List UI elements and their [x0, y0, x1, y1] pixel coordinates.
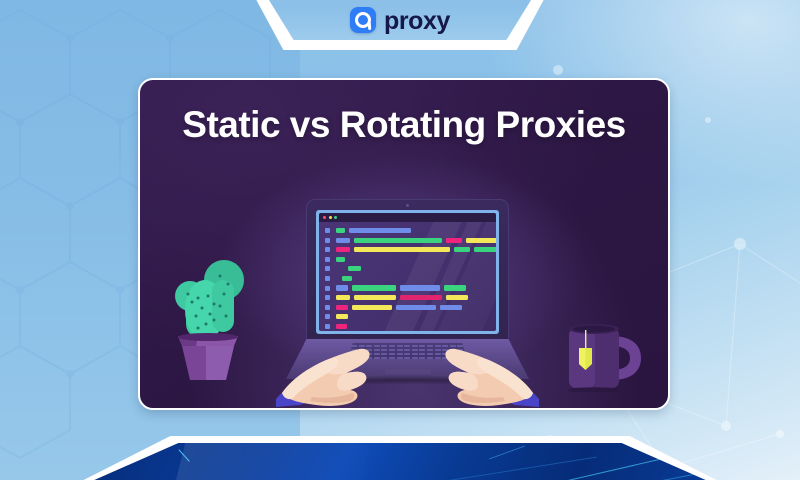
line-number-marker — [325, 228, 330, 233]
code-token — [440, 305, 462, 310]
laptop-screen-bezel — [316, 210, 499, 334]
code-token — [336, 247, 350, 252]
code-token — [336, 285, 348, 290]
proxy-logo-icon — [350, 7, 376, 33]
brand-logo[interactable]: proxy — [238, 2, 562, 38]
code-token — [446, 238, 462, 243]
keyboard-key[interactable] — [397, 345, 403, 347]
keyboard-key[interactable] — [397, 357, 403, 359]
code-line — [319, 313, 496, 320]
coffee-mug — [561, 314, 647, 392]
line-number-marker — [325, 286, 330, 291]
code-token — [336, 228, 345, 233]
maximize-dot-icon[interactable] — [334, 216, 337, 219]
brand-name: proxy — [384, 9, 450, 34]
code-token — [474, 247, 496, 252]
code-token — [354, 238, 442, 243]
minimize-dot-icon[interactable] — [329, 216, 332, 219]
code-token — [446, 295, 468, 300]
code-token — [336, 295, 350, 300]
code-line — [319, 275, 496, 282]
keyboard-key[interactable] — [404, 353, 410, 355]
line-number-marker — [325, 238, 330, 243]
code-token — [400, 285, 440, 290]
code-line — [319, 285, 496, 292]
code-token — [352, 285, 396, 290]
hero-card: Static vs Rotating Proxies — [138, 78, 670, 410]
laptop-trackpad[interactable] — [385, 369, 431, 374]
line-number-marker — [325, 266, 330, 271]
line-number-marker — [325, 276, 330, 281]
code-token — [354, 295, 396, 300]
laptop-lid — [306, 199, 509, 342]
keyboard-key[interactable] — [397, 349, 403, 351]
keyboard-key[interactable] — [404, 345, 410, 347]
keyboard-key[interactable] — [412, 345, 418, 347]
left-hand — [280, 335, 390, 407]
line-number-marker — [325, 247, 330, 252]
line-number-marker — [325, 324, 330, 329]
code-token — [354, 247, 450, 252]
code-token — [349, 228, 411, 233]
code-token — [336, 257, 345, 262]
code-token — [348, 266, 361, 271]
keyboard-key[interactable] — [412, 353, 418, 355]
line-number-marker — [325, 295, 330, 300]
cactus-plant — [168, 258, 264, 386]
keyboard-key[interactable] — [412, 349, 418, 351]
code-line — [319, 227, 496, 234]
editor-titlebar — [319, 213, 496, 222]
page-title: Static vs Rotating Proxies — [140, 104, 668, 146]
keyboard-key[interactable] — [412, 357, 418, 359]
code-token — [396, 305, 436, 310]
code-token — [444, 285, 466, 290]
code-editor-window — [319, 213, 496, 331]
code-token — [342, 276, 352, 281]
poster-canvas: proxy Static vs Rotating Proxies — [0, 0, 800, 480]
code-token — [352, 305, 392, 310]
code-lines-container — [319, 224, 496, 331]
code-line — [319, 294, 496, 301]
keyboard-key[interactable] — [404, 357, 410, 359]
right-hand — [425, 335, 535, 407]
code-token — [336, 314, 348, 319]
close-dot-icon[interactable] — [323, 216, 326, 219]
code-line — [319, 304, 496, 311]
webcam-icon — [406, 204, 409, 207]
laptop-illustration — [286, 199, 529, 399]
code-token — [400, 295, 442, 300]
line-number-marker — [325, 314, 330, 319]
code-token — [336, 324, 347, 329]
code-line — [319, 256, 496, 263]
keyboard-key[interactable] — [397, 353, 403, 355]
code-line — [319, 323, 496, 330]
line-number-marker — [325, 257, 330, 262]
code-token — [336, 238, 350, 243]
code-token — [336, 305, 348, 310]
code-line — [319, 237, 496, 244]
code-line — [319, 265, 496, 272]
line-number-marker — [325, 305, 330, 310]
code-token — [454, 247, 470, 252]
keyboard-key[interactable] — [404, 349, 410, 351]
code-token — [466, 238, 496, 243]
code-line — [319, 246, 496, 253]
